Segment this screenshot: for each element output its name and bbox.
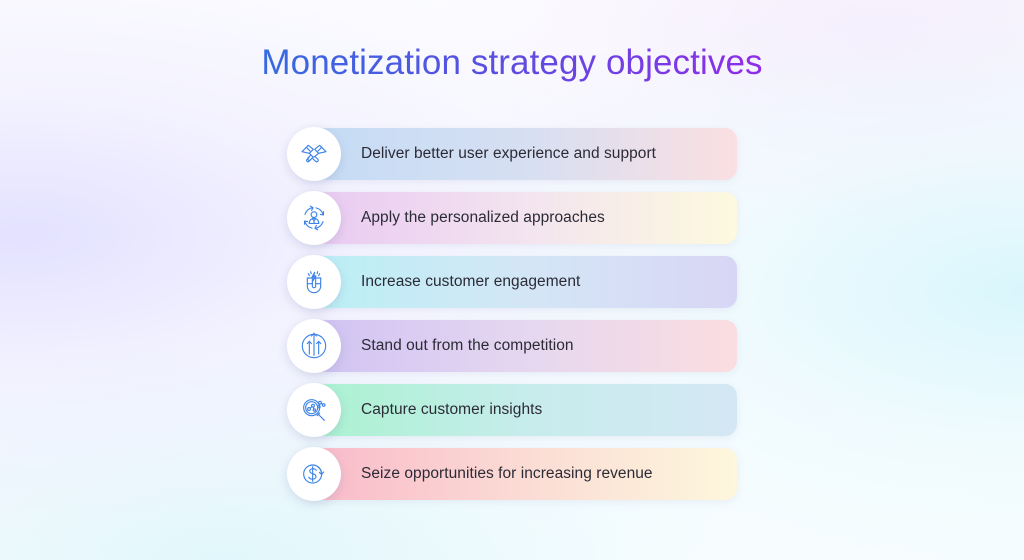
list-item[interactable]: Increase customer engagement (287, 256, 737, 308)
objective-icon-badge (287, 127, 341, 181)
insights-magnifier-icon (298, 394, 330, 426)
page-title: Monetization strategy objectives (0, 40, 1024, 86)
objective-icon-badge (287, 319, 341, 373)
list-item[interactable]: Stand out from the competition (287, 320, 737, 372)
objective-label: Deliver better user experience and suppo… (361, 128, 656, 180)
objective-icon-badge (287, 447, 341, 501)
objective-icon-badge (287, 255, 341, 309)
objective-label: Apply the personalized approaches (361, 192, 605, 244)
objective-icon-badge (287, 191, 341, 245)
list-item[interactable]: Seize opportunities for increasing reven… (287, 448, 737, 500)
handshake-icon (298, 138, 330, 170)
objective-label: Stand out from the competition (361, 320, 574, 372)
objective-label: Increase customer engagement (361, 256, 580, 308)
slide-canvas: Monetization strategy objectives Deliver… (0, 0, 1024, 560)
list-item[interactable]: Apply the personalized approaches (287, 192, 737, 244)
list-item[interactable]: Deliver better user experience and suppo… (287, 128, 737, 180)
person-cycle-icon (298, 202, 330, 234)
list-item[interactable]: Capture customer insights (287, 384, 737, 436)
growth-arrows-icon (298, 330, 330, 362)
objective-label: Seize opportunities for increasing reven… (361, 448, 653, 500)
objective-list: Deliver better user experience and suppo… (287, 128, 737, 500)
magnet-icon (298, 266, 330, 298)
objective-icon-badge (287, 383, 341, 437)
dollar-refresh-icon (298, 458, 330, 490)
objective-label: Capture customer insights (361, 384, 542, 436)
